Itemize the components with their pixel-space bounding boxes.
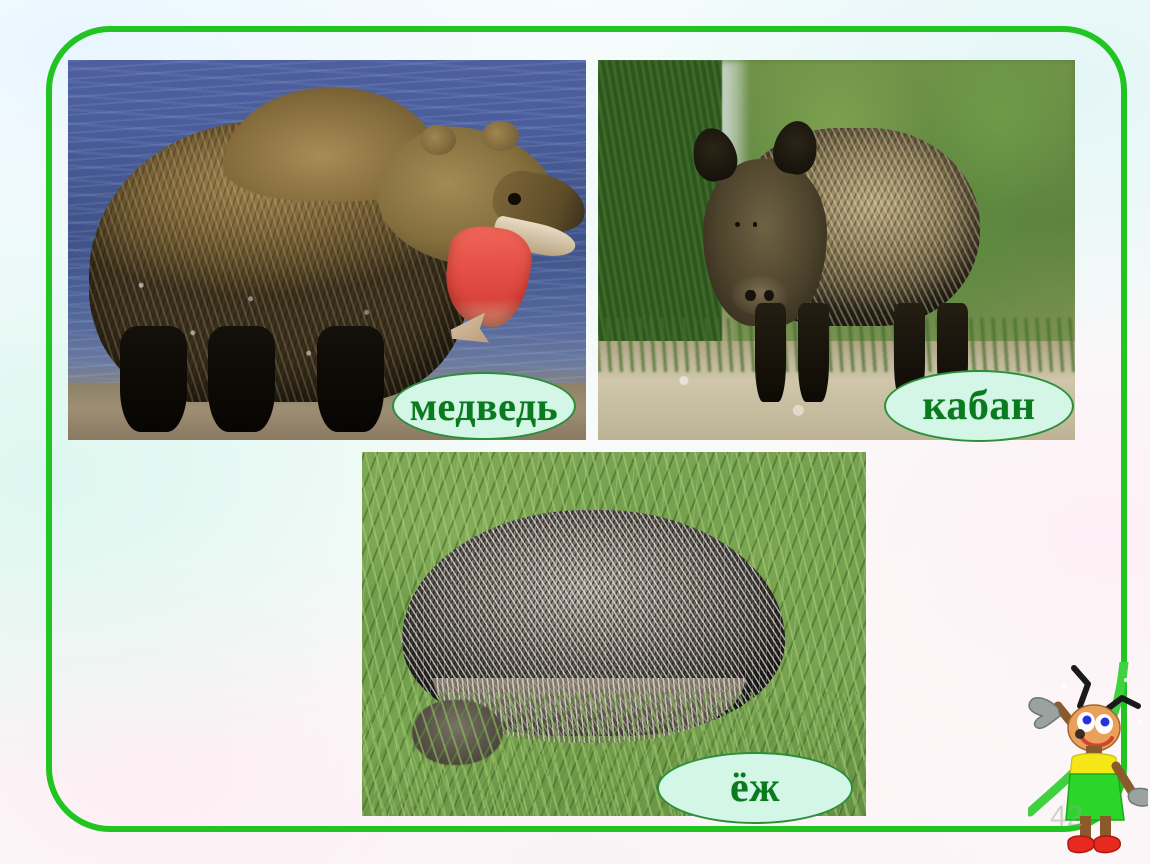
word-label-hedgehog[interactable]: ёж	[657, 752, 853, 824]
bear-ear-right	[482, 121, 518, 151]
ant-mascot-illustration	[1028, 662, 1148, 864]
water-droplets	[109, 258, 430, 395]
ant-pupil-right	[1101, 718, 1110, 727]
boar-leg-front-left	[755, 303, 786, 402]
shoe-right-icon	[1094, 836, 1120, 853]
word-label-bear[interactable]: медведь	[392, 372, 576, 440]
ant-mascot[interactable]: 42	[1020, 662, 1150, 864]
slide-root: медведь кабан	[0, 0, 1150, 864]
ant-eye-patch	[1075, 729, 1085, 739]
ant-shirt-yellow	[1070, 754, 1118, 777]
ant-pupil-left	[1083, 716, 1092, 725]
sparkle-icon	[1138, 720, 1142, 724]
glove-left-icon	[1029, 698, 1060, 729]
boar-nostril-right	[764, 290, 774, 302]
sparkle-icon	[1062, 684, 1066, 688]
glove-right-icon	[1128, 788, 1148, 806]
boar-eye-left	[735, 222, 740, 227]
bear-eye	[508, 193, 520, 205]
boar-path-grass	[598, 318, 1075, 371]
sparkle-icon	[1124, 678, 1128, 682]
word-label-boar[interactable]: кабан	[884, 370, 1074, 442]
antenna-left-icon	[1074, 668, 1088, 706]
boar-leg-front-right	[798, 303, 829, 402]
boar-nostril-left	[745, 290, 755, 302]
boar-eye-right	[753, 222, 758, 227]
antenna-right-icon	[1106, 698, 1138, 710]
watermark-number: 42	[1050, 800, 1083, 834]
shoe-left-icon	[1068, 836, 1094, 853]
